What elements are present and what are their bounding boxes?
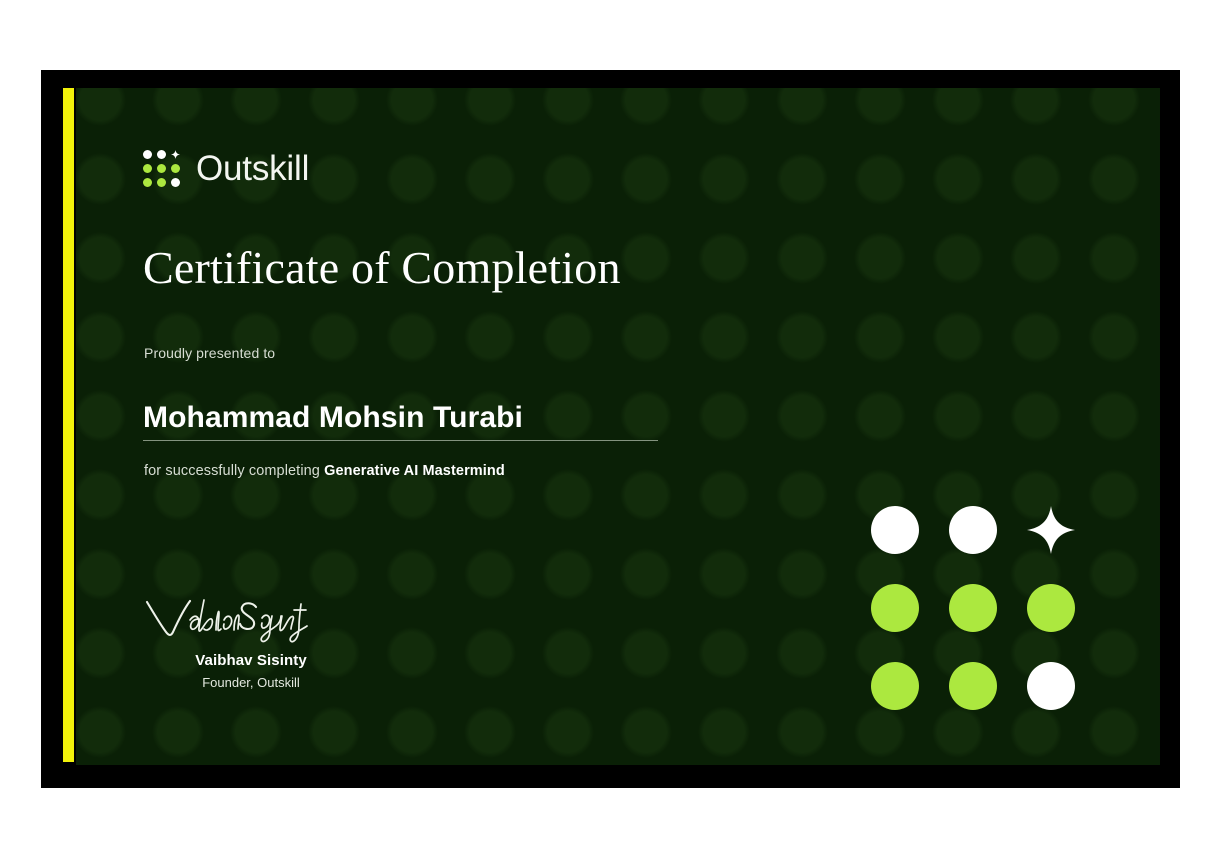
logo-sparkle-icon bbox=[171, 150, 180, 159]
decor-dot-9 bbox=[1027, 662, 1075, 710]
course-completion-line: for successfully completing Generative A… bbox=[144, 463, 505, 479]
name-divider bbox=[143, 440, 658, 441]
brand-logo: Outskill bbox=[143, 150, 309, 187]
brand-wordmark: Outskill bbox=[196, 151, 309, 186]
decor-dot-6 bbox=[1027, 584, 1075, 632]
decor-sparkle-icon bbox=[1027, 506, 1075, 554]
signatory-title: Founder, Outskill bbox=[140, 675, 362, 690]
handwritten-signature-icon bbox=[144, 596, 430, 644]
certificate-canvas: Outskill Certificate of Completion Proud… bbox=[76, 88, 1160, 765]
logo-dot-9 bbox=[171, 178, 180, 187]
presented-to-label: Proudly presented to bbox=[144, 345, 275, 361]
signatory-name: Vaibhav Sisinty bbox=[140, 652, 362, 669]
course-prefix-text: for successfully completing bbox=[144, 463, 324, 479]
decor-dot-1 bbox=[871, 506, 919, 554]
logo-dot-4 bbox=[143, 164, 152, 173]
certificate-frame: Outskill Certificate of Completion Proud… bbox=[41, 70, 1180, 788]
decor-dot-4 bbox=[871, 584, 919, 632]
certificate-content: Outskill Certificate of Completion Proud… bbox=[76, 88, 1160, 765]
logo-dot-1 bbox=[143, 150, 152, 159]
logo-dot-2 bbox=[157, 150, 166, 159]
signature-block: Vaibhav Sisinty Founder, Outskill bbox=[140, 596, 430, 690]
outskill-dot-grid-icon bbox=[143, 150, 180, 187]
logo-dot-7 bbox=[143, 178, 152, 187]
decor-dot-8 bbox=[949, 662, 997, 710]
logo-dot-5 bbox=[157, 164, 166, 173]
decor-dot-5 bbox=[949, 584, 997, 632]
logo-dot-6 bbox=[171, 164, 180, 173]
recipient-name: Mohammad Mohsin Turabi bbox=[143, 401, 523, 435]
dot-grid-decoration bbox=[871, 506, 1075, 710]
course-name-text: Generative AI Mastermind bbox=[324, 463, 505, 479]
yellow-accent-bar bbox=[63, 88, 74, 762]
decor-dot-2 bbox=[949, 506, 997, 554]
logo-dot-8 bbox=[157, 178, 166, 187]
certificate-title: Certificate of Completion bbox=[143, 243, 621, 294]
decor-dot-7 bbox=[871, 662, 919, 710]
